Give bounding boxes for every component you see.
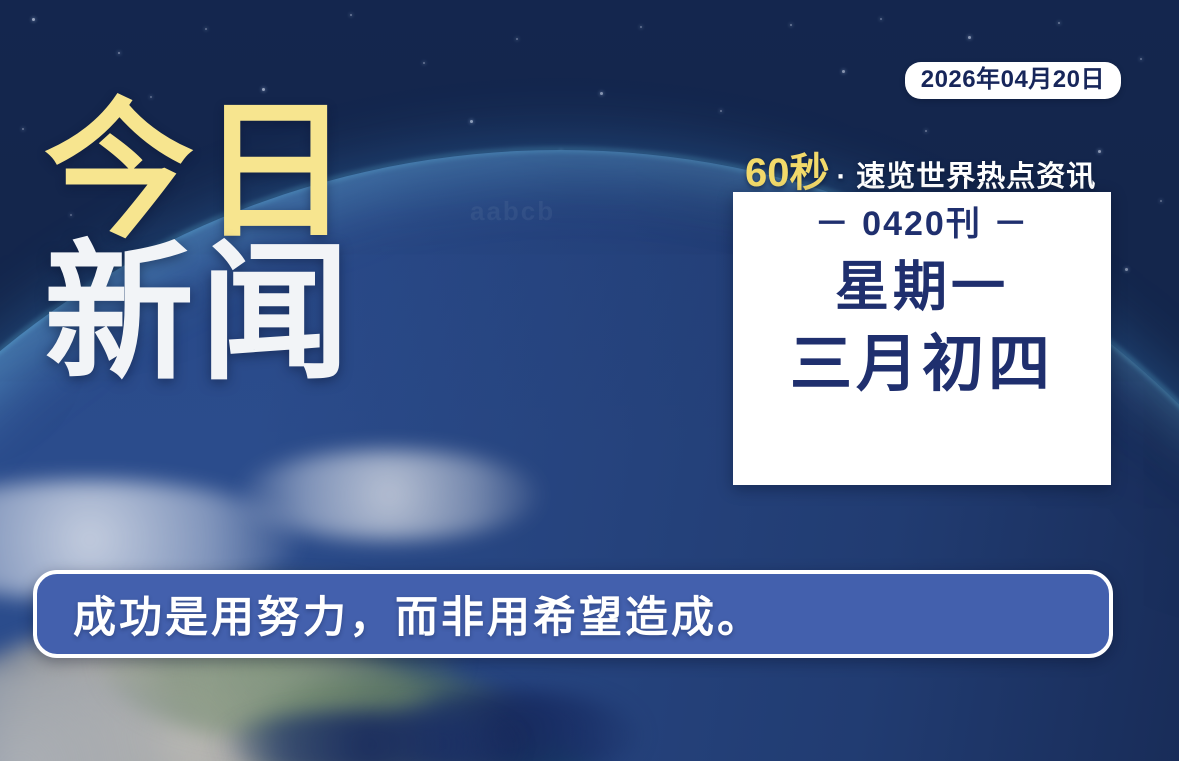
title-line-news: 新闻 [44, 240, 356, 388]
news-banner: aabcb 今日 新闻 2026年04月20日 60秒 · 速览世界热点资讯 －… [0, 0, 1179, 761]
slogan-rest: · 速览世界热点资讯 [837, 153, 1097, 195]
slogan-highlight: 60秒 [745, 140, 830, 198]
quote-bar: 成功是用努力，而非用希望造成。 [33, 570, 1113, 658]
quote-text: 成功是用努力，而非用希望造成。 [37, 583, 763, 645]
issue-card: － 0420刊 － 星期一 三月初四 [733, 192, 1111, 485]
slogan: 60秒 · 速览世界热点资讯 [745, 140, 1096, 198]
weekday-label: 星期一 [835, 259, 1009, 316]
page-title: 今日 新闻 [44, 98, 356, 388]
title-line-today: 今日 [44, 98, 356, 246]
lunar-date-label: 三月初四 [790, 332, 1054, 397]
date-badge: 2026年04月20日 [905, 62, 1121, 99]
issue-number: － 0420刊 － [815, 206, 1030, 243]
watermark: aabcb [470, 196, 555, 227]
